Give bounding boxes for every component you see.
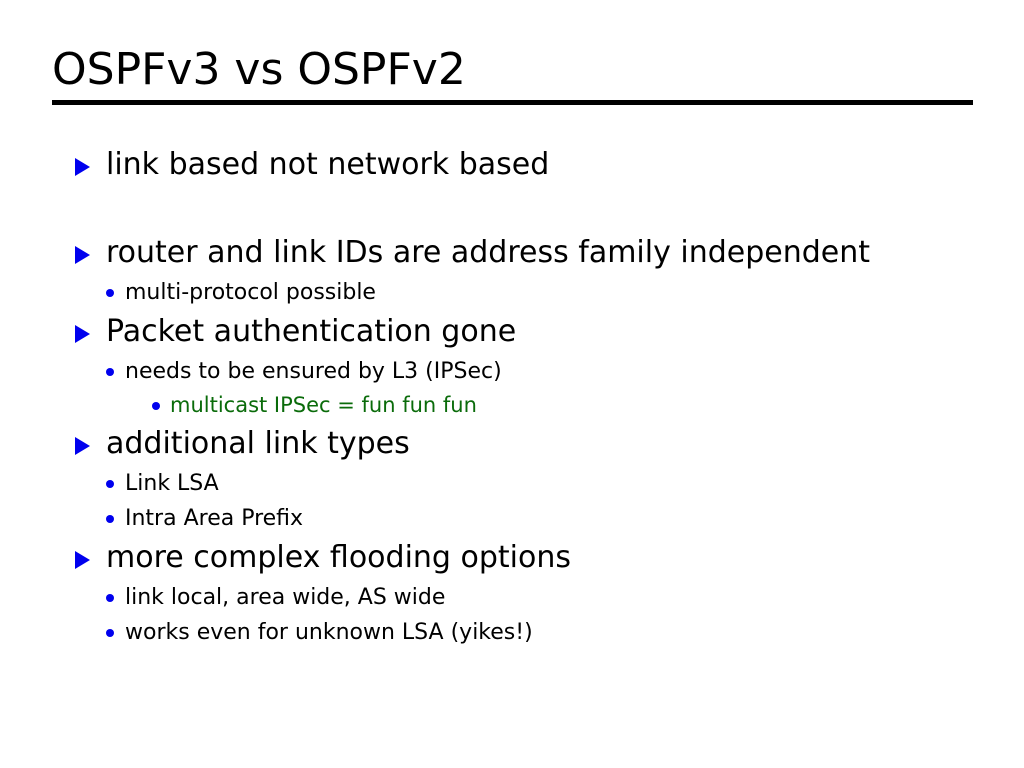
list-item[interactable]: works even for unknown LSA (yikes!) — [0, 615, 1024, 650]
list-item[interactable]: router and link IDs are address family i… — [0, 231, 1024, 275]
list-item-label: multi-protocol possible — [104, 275, 376, 310]
list-item-label: link based not network based — [75, 143, 549, 187]
triangle-right-icon — [75, 437, 90, 455]
dot-icon — [152, 402, 160, 410]
list-item-label: multicast IPSec = fun fun fun — [150, 389, 477, 422]
list-item-label: works even for unknown LSA (yikes!) — [104, 615, 533, 650]
dot-icon — [106, 368, 114, 376]
page-title: OSPFv3 vs OSPFv2 — [52, 44, 973, 96]
slide-canvas: OSPFv3 vs OSPFv2 link based not network … — [0, 0, 1024, 768]
triangle-right-icon — [75, 158, 90, 176]
bullet-list: link based not network based router and … — [0, 143, 1024, 650]
list-item[interactable]: link based not network based — [0, 143, 1024, 187]
list-item[interactable]: more complex flooding options — [0, 536, 1024, 580]
list-item-label: Link LSA — [104, 466, 219, 501]
dot-icon — [106, 515, 114, 523]
list-item[interactable]: additional link types — [0, 422, 1024, 466]
list-item[interactable]: multicast IPSec = fun fun fun — [0, 389, 1024, 422]
list-item-label: needs to be ensured by L3 (IPSec) — [104, 354, 502, 389]
list-item-label: link local, area wide, AS wide — [104, 580, 445, 615]
title-block: OSPFv3 vs OSPFv2 — [52, 44, 973, 96]
list-item[interactable]: Intra Area Prefix — [0, 501, 1024, 536]
list-item[interactable]: multi-protocol possible — [0, 275, 1024, 310]
dot-icon — [106, 289, 114, 297]
triangle-right-icon — [75, 325, 90, 343]
triangle-right-icon — [75, 551, 90, 569]
list-item-label: router and link IDs are address family i… — [75, 231, 870, 275]
title-underline-rule — [52, 100, 973, 105]
list-item-label: additional link types — [75, 422, 410, 466]
dot-icon — [106, 480, 114, 488]
dot-icon — [106, 594, 114, 602]
bullet-spacer — [0, 187, 1024, 231]
list-item[interactable]: needs to be ensured by L3 (IPSec) — [0, 354, 1024, 389]
list-item-label: Packet authentication gone — [75, 310, 516, 354]
list-item[interactable]: Link LSA — [0, 466, 1024, 501]
dot-icon — [106, 629, 114, 637]
list-item[interactable]: Packet authentication gone — [0, 310, 1024, 354]
list-item-label: more complex flooding options — [75, 536, 571, 580]
triangle-right-icon — [75, 246, 90, 264]
list-item[interactable]: link local, area wide, AS wide — [0, 580, 1024, 615]
list-item-label: Intra Area Prefix — [104, 501, 303, 536]
